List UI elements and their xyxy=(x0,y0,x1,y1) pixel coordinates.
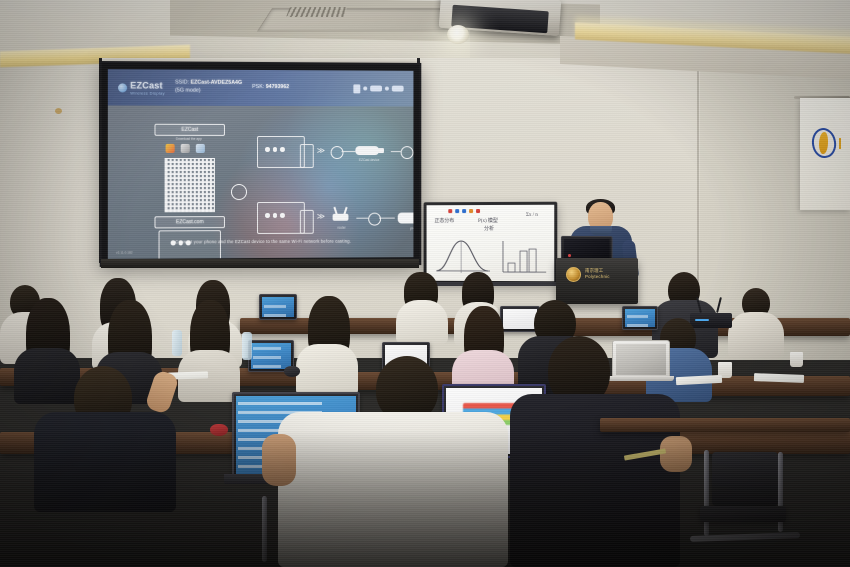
projector-screen: EZCast Wireless Display SSID: EZCast-AVD… xyxy=(100,61,422,267)
whiteboard-note-0: 正态分布 xyxy=(434,217,454,224)
attendee-body xyxy=(14,348,80,404)
flow2-caption-1: router xyxy=(321,226,363,230)
ssid-note: (5G mode) xyxy=(175,88,201,94)
slide-header-icons xyxy=(353,84,403,93)
bell-curve-sketch xyxy=(434,235,492,275)
flow2-projector-icon xyxy=(398,213,414,224)
marker-red-icon-2 xyxy=(476,209,480,213)
marker-blue-icon xyxy=(455,209,459,213)
computer-mouse-red[interactable] xyxy=(210,424,228,436)
apple-store-icon xyxy=(181,144,190,153)
desk-row1-left xyxy=(240,318,490,334)
flow1-monitor-dots xyxy=(265,147,284,152)
flow1-caption-2: router xyxy=(406,160,414,164)
macbook-base xyxy=(606,376,674,381)
whiteboard: 正态分布 P(x) 模型 分析 Σx / n xyxy=(424,202,558,285)
flow2-router-icon xyxy=(333,214,349,221)
ezcast-logo: EZCast Wireless Display xyxy=(118,80,165,95)
attendee-arm xyxy=(660,436,692,472)
google-play-icon xyxy=(166,144,175,153)
chair-frame xyxy=(704,450,709,536)
marker-red-icon xyxy=(448,209,452,213)
ceiling-air-conditioner xyxy=(257,8,449,31)
podium-logo-line-2: Polytechnic xyxy=(585,274,610,280)
computer-mouse[interactable] xyxy=(284,366,300,377)
laptop-right-macbook[interactable] xyxy=(612,340,670,380)
flow2-caption-2: projector xyxy=(396,226,414,230)
slide-body: EZCast Download the app EZCast.com xyxy=(108,105,414,258)
ssid-value: EZCast-AVDEZ5A4G xyxy=(191,80,243,86)
flow1-caption-1: EZCast device xyxy=(348,158,389,162)
psk-label: PSK: xyxy=(252,84,264,90)
whiteboard-note-1: P(x) 模型 xyxy=(478,217,498,224)
attendee-body xyxy=(34,412,176,512)
ezcast-brand-sub: Wireless Display xyxy=(130,90,165,95)
flow2-monitor-dots xyxy=(265,213,284,218)
presenter-laptop-screen[interactable] xyxy=(564,239,610,260)
slide-app-label-bottom: EZCast.com xyxy=(154,216,224,228)
presentation-slide: EZCast Wireless Display SSID: EZCast-AVD… xyxy=(108,69,414,259)
flow1-monitor-icon xyxy=(257,136,305,168)
marker-blue-icon-2 xyxy=(462,209,466,213)
arrow-dot-icon xyxy=(363,86,367,90)
attendee-body-white-shirt xyxy=(278,412,508,567)
macbook-screen[interactable] xyxy=(616,344,666,375)
attendee-arm xyxy=(262,434,296,486)
projector-screen-weight-bar xyxy=(101,259,419,268)
psk-value: 94793962 xyxy=(266,84,290,90)
slide-version: v2.11.0.182 xyxy=(116,251,133,255)
slide-app-label-top: EZCast xyxy=(154,124,224,136)
whiteboard-note-3: Σx / n xyxy=(526,213,538,218)
sprinkler-head-icon xyxy=(55,108,62,114)
flow1-node-icon xyxy=(331,146,344,159)
slide-footer-note: * Connect your phone and the EZCast devi… xyxy=(108,238,414,244)
ssid-label: SSID: xyxy=(175,80,189,86)
ezcast-brand: EZCast xyxy=(130,80,165,90)
dongle-icon xyxy=(370,85,382,91)
banner-logo-icon xyxy=(812,128,836,158)
flow1-wifi-icon: ≫ xyxy=(317,147,325,155)
phone-icon xyxy=(353,84,360,93)
flow2-tablet-icon xyxy=(300,210,314,234)
classroom-photo: EZCast Wireless Display SSID: EZCast-AVD… xyxy=(0,0,850,567)
slide-psk-info: PSK: 94793962 xyxy=(252,84,289,92)
chair-back[interactable] xyxy=(712,452,778,506)
router-led-icon xyxy=(695,319,709,321)
projector-lens-icon xyxy=(447,25,469,44)
chair-frame-3 xyxy=(262,496,267,562)
water-bottle xyxy=(242,332,252,360)
bar-chart-sketch xyxy=(500,239,548,275)
slide-header: EZCast Wireless Display SSID: EZCast-AVD… xyxy=(108,69,414,106)
arrow-dot-icon-2 xyxy=(385,87,389,91)
flow2-node-icon xyxy=(368,213,381,226)
air-vent-slats-icon xyxy=(286,7,347,17)
handout-papers-2 xyxy=(754,373,804,383)
share-icon xyxy=(231,184,247,200)
flow2-monitor-icon xyxy=(257,202,305,234)
water-bottle-2 xyxy=(172,330,182,356)
laptop-back-right[interactable] xyxy=(622,306,658,330)
desk-row3-far-right xyxy=(600,418,850,432)
qr-code xyxy=(165,158,215,212)
wifi-router xyxy=(690,313,732,328)
flow1-node2-icon xyxy=(401,146,414,159)
podium-logo: 南京理工 Polytechnic xyxy=(566,266,628,282)
laptop-back-left[interactable] xyxy=(259,294,297,320)
flow1-tablet-icon xyxy=(300,144,314,168)
marker-orange-icon xyxy=(469,209,473,213)
laptop-power-led-icon xyxy=(568,254,571,257)
whiteboard-note-2: 分析 xyxy=(484,225,494,232)
flow2-wifi-icon: ≫ xyxy=(317,213,325,221)
chair-seat[interactable] xyxy=(700,506,786,522)
attendee-body xyxy=(296,344,358,396)
attendee-body xyxy=(396,300,448,344)
podium-globe-icon xyxy=(566,267,581,282)
slide-ssid-info: SSID: EZCast-AVDEZ5A4G (5G mode) xyxy=(175,80,242,96)
presenter-collar xyxy=(590,226,612,235)
windows-store-icon xyxy=(196,144,205,153)
attendee-body xyxy=(728,312,784,358)
ezcast-logo-icon xyxy=(118,83,127,92)
coffee-cup-2 xyxy=(790,352,803,367)
slide-app-sub-top: Download the app xyxy=(154,137,222,141)
flow1-dongle-icon xyxy=(355,146,379,155)
display-icon xyxy=(392,86,404,92)
